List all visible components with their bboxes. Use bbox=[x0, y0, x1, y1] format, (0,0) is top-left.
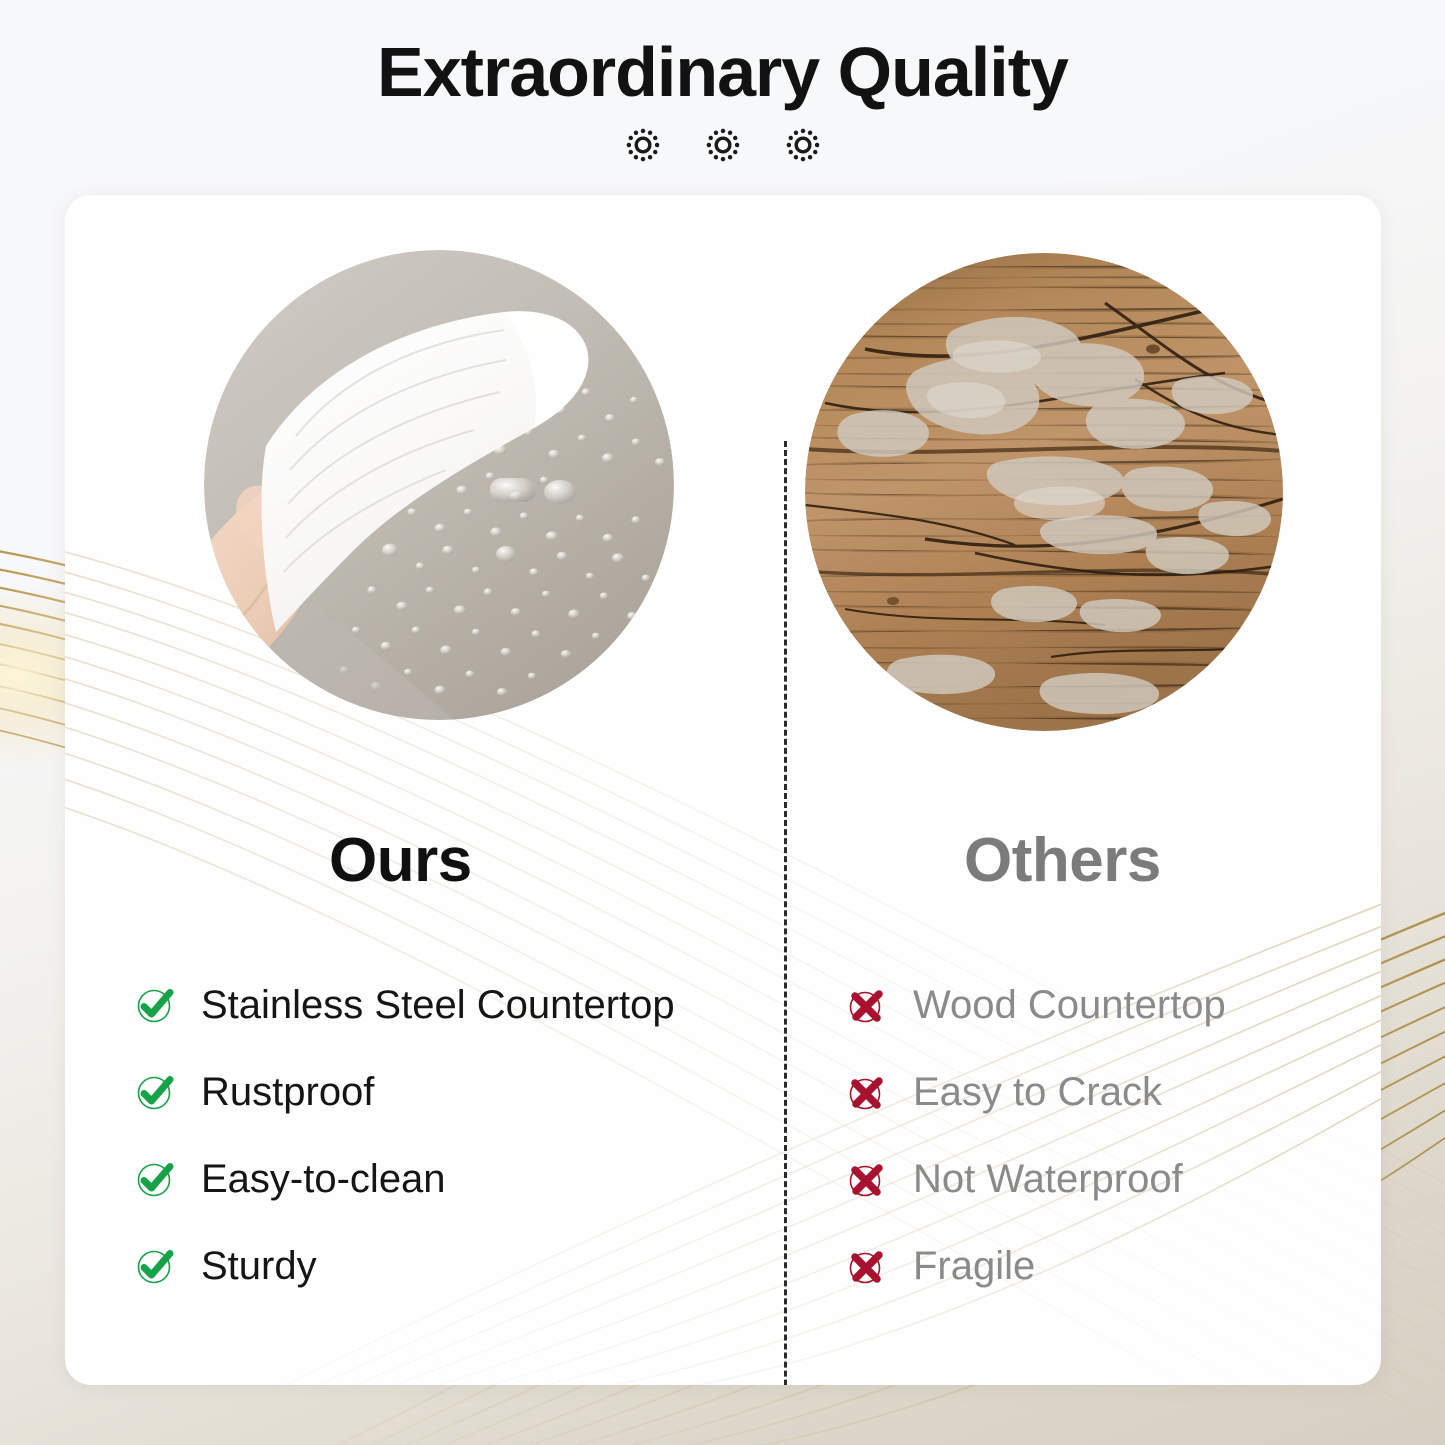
check-circle-icon bbox=[131, 1068, 179, 1116]
cross-circle-icon bbox=[843, 981, 891, 1029]
list-item: Wood Countertop bbox=[843, 961, 1363, 1048]
cross-circle-icon bbox=[843, 1155, 891, 1203]
list-item: Easy to Crack bbox=[843, 1048, 1363, 1135]
feature-label: Stainless Steel Countertop bbox=[201, 985, 675, 1025]
check-circle-icon bbox=[131, 1242, 179, 1290]
check-circle-icon bbox=[131, 981, 179, 1029]
list-item: Stainless Steel Countertop bbox=[131, 961, 751, 1048]
sun-icon bbox=[786, 128, 820, 162]
feature-label: Sturdy bbox=[201, 1246, 317, 1286]
others-heading: Others bbox=[964, 830, 1161, 892]
comparison-card: Ours Others Stainless Steel Countertop bbox=[65, 195, 1381, 1385]
ours-feature-list: Stainless Steel Countertop Rustproof Eas… bbox=[131, 961, 751, 1309]
feature-label: Easy-to-clean bbox=[201, 1159, 446, 1199]
ours-heading: Ours bbox=[329, 830, 472, 892]
sun-icon bbox=[706, 128, 740, 162]
others-feature-list: Wood Countertop Easy to Crack bbox=[843, 961, 1363, 1309]
check-circle-icon bbox=[131, 1155, 179, 1203]
ornament-row bbox=[626, 128, 820, 162]
feature-label: Wood Countertop bbox=[913, 985, 1226, 1025]
sun-icon bbox=[626, 128, 660, 162]
cross-circle-icon bbox=[843, 1068, 891, 1116]
header: Extraordinary Quality bbox=[0, 0, 1445, 195]
others-product-photo bbox=[805, 253, 1283, 731]
feature-label: Rustproof bbox=[201, 1072, 374, 1112]
list-item: Rustproof bbox=[131, 1048, 751, 1135]
column-divider bbox=[784, 441, 787, 1385]
infographic-canvas: Extraordinary Quality bbox=[0, 0, 1445, 1445]
feature-label: Not Waterproof bbox=[913, 1159, 1183, 1199]
list-item: Easy-to-clean bbox=[131, 1135, 751, 1222]
cross-circle-icon bbox=[843, 1242, 891, 1290]
list-item: Fragile bbox=[843, 1222, 1363, 1309]
ours-product-photo bbox=[204, 250, 674, 720]
feature-label: Fragile bbox=[913, 1246, 1035, 1286]
list-item: Not Waterproof bbox=[843, 1135, 1363, 1222]
page-title: Extraordinary Quality bbox=[377, 36, 1068, 110]
feature-label: Easy to Crack bbox=[913, 1072, 1162, 1112]
list-item: Sturdy bbox=[131, 1222, 751, 1309]
